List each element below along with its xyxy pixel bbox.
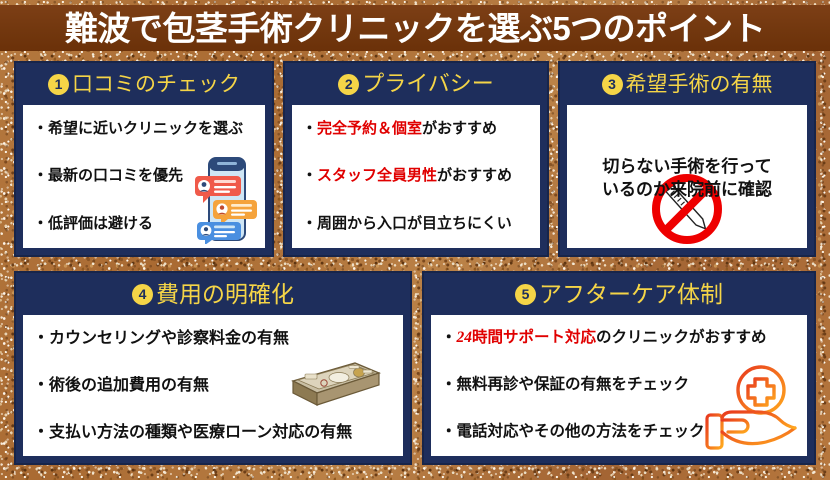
card-1-body: ・希望に近いクリニックを選ぶ・最新の口コミを優先・低評価は避ける (23, 105, 265, 248)
card-5-number-badge: 5 (515, 284, 536, 305)
page-title: 難波で包茎手術クリニックを選ぶ5つのポイント (65, 12, 765, 45)
list-item: ・術後の追加費用の有無 (33, 376, 393, 395)
list-item: ・完全予約＆個室がおすすめ (302, 120, 530, 138)
card-4-body: ・カウンセリングや診察料金の有無・術後の追加費用の有無・支払い方法の種類や医療ロ… (23, 315, 403, 456)
card-privacy: 2 プライバシー ・完全予約＆個室がおすすめ・スタッフ全員男性がおすすめ・周囲か… (283, 61, 549, 257)
list-item: ・無料再診や保証の有無をチェック (441, 376, 797, 395)
card-3-line-1: 切らない手術を行って (567, 156, 807, 179)
card-3-body: 切らない手術を行って いるのか来院前に確認 (567, 105, 807, 248)
list-item: ・24時間サポート対応のクリニックがおすすめ (441, 329, 797, 348)
card-4-number-badge: 4 (132, 284, 153, 305)
list-item: ・電話対応やその他の方法をチェック (441, 423, 797, 442)
list-item: ・最新の口コミを優先 (33, 167, 255, 185)
list-item: ・低評価は避ける (33, 215, 255, 233)
card-3-header: 3 希望手術の有無 (560, 63, 814, 105)
card-4-bullet-list: ・カウンセリングや診察料金の有無・術後の追加費用の有無・支払い方法の種類や医療ロ… (23, 315, 403, 456)
card-1-bullet-list: ・希望に近いクリニックを選ぶ・最新の口コミを優先・低評価は避ける (23, 105, 265, 248)
card-kuchikomi-check: 1 口コミのチェック (14, 61, 274, 257)
card-2-bullet-list: ・完全予約＆個室がおすすめ・スタッフ全員男性がおすすめ・周囲から入口が目立ちにく… (292, 105, 540, 248)
card-desired-surgery: 3 希望手術の有無 切らない手術を行って いるのか来院前に確認 (558, 61, 816, 257)
card-1-title: 口コミのチェック (72, 74, 240, 95)
card-3-line-2: いるのか来院前に確認 (567, 179, 807, 202)
title-banner: 難波で包茎手術クリニックを選ぶ5つのポイント (0, 5, 830, 51)
card-1-number-badge: 1 (48, 74, 69, 95)
card-2-body: ・完全予約＆個室がおすすめ・スタッフ全員男性がおすすめ・周囲から入口が目立ちにく… (292, 105, 540, 248)
card-2-header: 2 プライバシー (285, 63, 547, 105)
list-item: ・周囲から入口が目立ちにくい (302, 215, 530, 233)
card-5-bullet-list: ・24時間サポート対応のクリニックがおすすめ・無料再診や保証の有無をチェック・電… (431, 315, 807, 456)
card-3-number-badge: 3 (602, 74, 623, 95)
card-3-text: 切らない手術を行って いるのか来院前に確認 (567, 152, 807, 202)
list-item: ・希望に近いクリニックを選ぶ (33, 120, 255, 138)
card-aftercare: 5 アフターケア体制 ・24時間サポート対応のクリニックがおすすめ・無料再診や保… (422, 271, 816, 465)
card-4-header: 4 費用の明確化 (16, 273, 410, 315)
card-2-number-badge: 2 (338, 74, 359, 95)
list-item: ・スタッフ全員男性がおすすめ (302, 167, 530, 185)
card-3-title: 希望手術の有無 (626, 74, 773, 95)
list-item: ・カウンセリングや診察料金の有無 (33, 329, 393, 348)
card-5-title: アフターケア体制 (539, 283, 723, 306)
list-item: ・支払い方法の種類や医療ローン対応の有無 (33, 423, 393, 442)
card-cost-clarity: 4 費用の明確化 ・カウンセリングや診察料金の有無・術後の追加費用の有無・支払い… (14, 271, 412, 465)
card-4-title: 費用の明確化 (156, 283, 294, 306)
card-2-title: プライバシー (362, 73, 494, 95)
card-1-header: 1 口コミのチェック (16, 63, 272, 105)
card-5-body: ・24時間サポート対応のクリニックがおすすめ・無料再診や保証の有無をチェック・電… (431, 315, 807, 456)
card-5-header: 5 アフターケア体制 (424, 273, 814, 315)
